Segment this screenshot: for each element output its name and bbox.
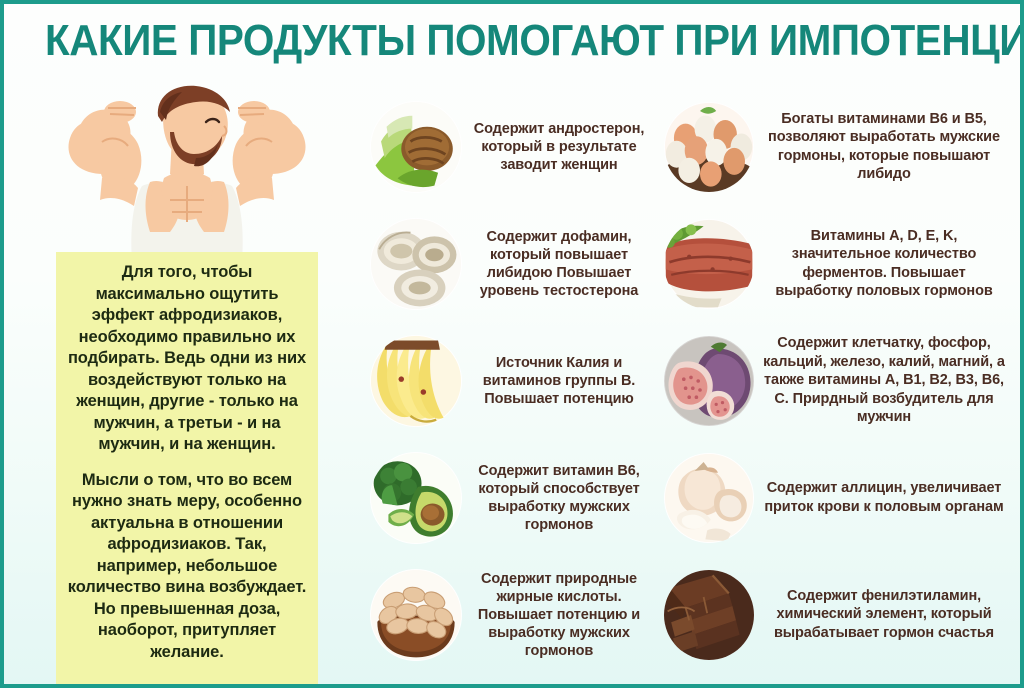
bananas-icon (370, 335, 462, 427)
middle-food-column: Содержит андростерон, который в результа… (364, 88, 654, 673)
page-title: КАКИЕ ПРОДУКТЫ ПОМОГАЮТ ПРИ ИМПОТЕНЦИИ? (45, 18, 987, 64)
almonds-icon (370, 569, 462, 661)
list-item: Содержит андростерон, который в результа… (364, 88, 654, 205)
list-item: Содержит природные жирные кислоты. Повыш… (364, 556, 654, 673)
avocado-icon (370, 452, 462, 544)
figs-icon (664, 336, 754, 426)
liver-meat-icon (664, 219, 754, 309)
infographic-poster: КАКИЕ ПРОДУКТЫ ПОМОГАЮТ ПРИ ИМПОТЕНЦИИ? (0, 0, 1024, 688)
list-item: Витамины A, D, E, K, значительное количе… (656, 205, 1020, 322)
list-item: Содержит дофамин, который повышает либид… (364, 205, 654, 322)
list-item: Источник Калия и витаминов группы В. Пов… (364, 322, 654, 439)
left-column: Для того, чтобы максимально ощутить эффе… (24, 82, 344, 678)
list-item-caption: Содержит андростерон, который в результа… (462, 120, 654, 174)
list-item: Содержит аллицин, увеличивает приток кро… (656, 439, 1020, 556)
list-item-caption: Содержит клетчатку, фосфор, кальций, жел… (754, 334, 1020, 427)
list-item-caption: Содержит аллицин, увеличивает приток кро… (754, 479, 1020, 516)
list-item-caption: Содержит дофамин, который повышает либид… (462, 228, 654, 300)
chocolate-icon (664, 570, 754, 660)
list-item: Богаты витаминами В6 и В5, позволяют выр… (656, 88, 1020, 205)
list-item: Содержит витамин В6, который способствуе… (364, 439, 654, 556)
note-paragraph-1: Для того, чтобы максимально ощутить эффе… (66, 262, 308, 456)
list-item-caption: Источник Калия и витаминов группы В. Пов… (462, 354, 654, 408)
hero-illustration (46, 82, 328, 262)
note-panel: Для того, чтобы максимально ощутить эффе… (56, 252, 318, 688)
list-item: Содержит клетчатку, фосфор, кальций, жел… (656, 322, 1020, 439)
list-item-caption: Содержит витамин В6, который способствуе… (462, 462, 654, 534)
right-food-column: Богаты витаминами В6 и В5, позволяют выр… (656, 88, 1020, 673)
list-item-caption: Витамины A, D, E, K, значительное количе… (754, 227, 1020, 301)
note-paragraph-2: Мысли о том, что во всем нужно знать мер… (66, 470, 308, 664)
list-item-caption: Содержит фенилэтиламин, химический элеме… (754, 587, 1020, 643)
eggs-icon (664, 102, 754, 192)
list-item-caption: Богаты витаминами В6 и В5, позволяют выр… (754, 110, 1020, 184)
muscular-man-icon (46, 82, 328, 262)
list-item: Содержит фенилэтиламин, химический элеме… (656, 556, 1020, 673)
list-item-caption: Содержит природные жирные кислоты. Повыш… (462, 570, 654, 660)
celery-meat-icon (370, 101, 462, 193)
garlic-icon (664, 453, 754, 543)
oysters-icon (370, 218, 462, 310)
